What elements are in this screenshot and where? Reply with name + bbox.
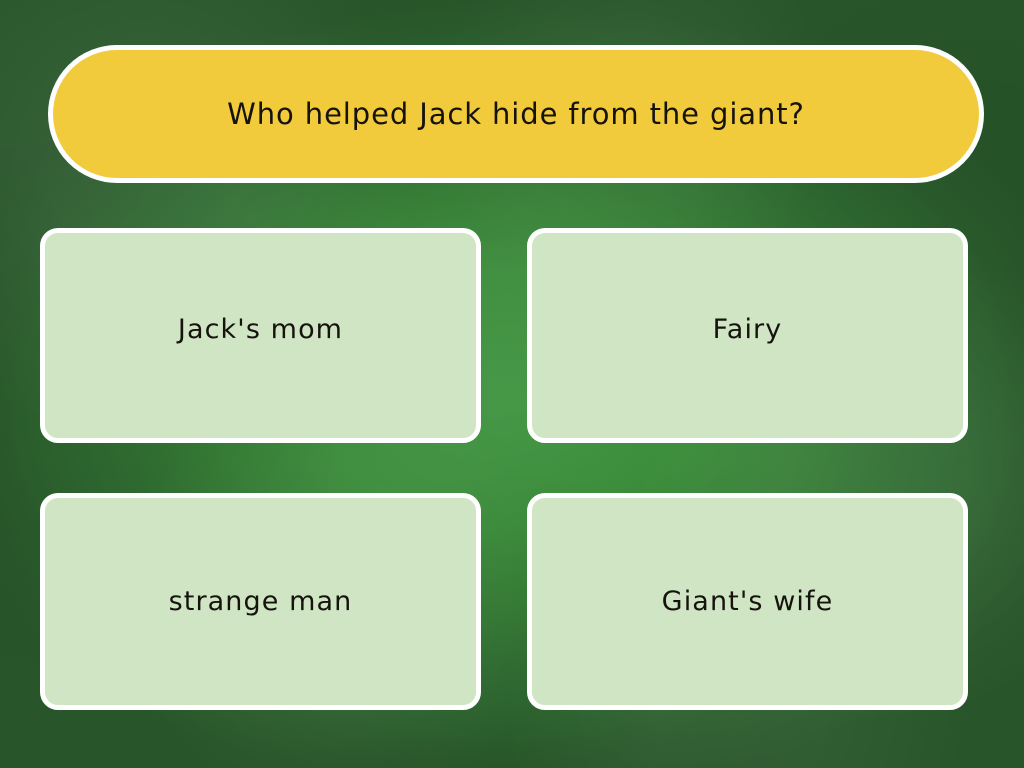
answer-options-grid: Jack's mom Fairy strange man Giant's wif… (40, 228, 963, 710)
answer-option-4[interactable]: Giant's wife (527, 493, 968, 710)
answer-option-2-label: Fairy (691, 314, 805, 345)
quiz-slide: Who helped Jack hide from the giant? Jac… (0, 0, 1024, 768)
answer-option-4-label: Giant's wife (640, 586, 856, 617)
answer-option-1[interactable]: Jack's mom (40, 228, 481, 443)
answer-option-3[interactable]: strange man (40, 493, 481, 710)
answer-option-2[interactable]: Fairy (527, 228, 968, 443)
question-text: Who helped Jack hide from the giant? (193, 99, 839, 131)
answer-option-1-label: Jack's mom (156, 314, 365, 345)
question-banner: Who helped Jack hide from the giant? (48, 45, 984, 183)
answer-option-3-label: strange man (147, 586, 375, 617)
